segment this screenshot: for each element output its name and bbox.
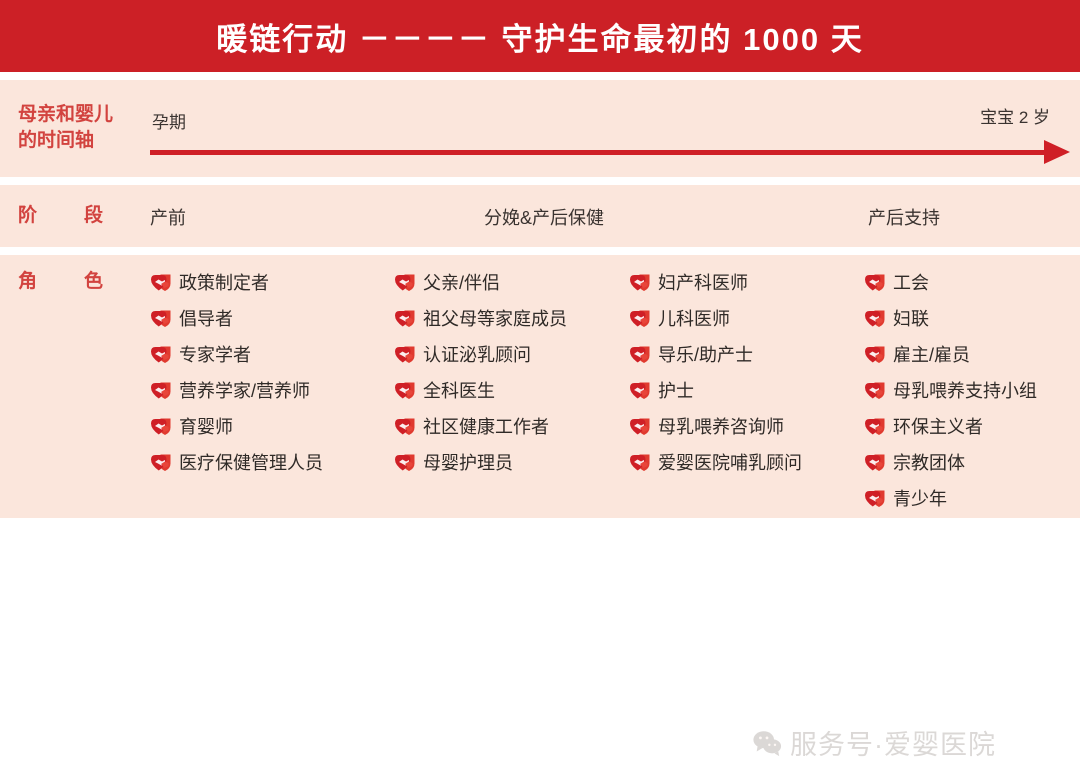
role-item: 母婴护理员 [394, 445, 567, 481]
role-item: 护士 [629, 373, 802, 409]
handshake-heart-icon [150, 273, 172, 293]
handshake-heart-icon [394, 273, 416, 293]
role-item-label: 营养学家/营养师 [179, 382, 310, 400]
role-item: 青少年 [864, 481, 1037, 517]
role-item: 母乳喂养咨询师 [629, 409, 802, 445]
role-item-label: 母乳喂养支持小组 [893, 382, 1037, 400]
role-item: 母乳喂养支持小组 [864, 373, 1037, 409]
role-item: 父亲/伴侣 [394, 265, 567, 301]
handshake-heart-icon [150, 345, 172, 365]
role-item-label: 母乳喂养咨询师 [658, 418, 784, 436]
roles-section: 角 色 政策制定者倡导者专家学者营养学家/营养师育婴师医疗保健管理人员 父亲/伴… [0, 255, 1080, 518]
role-item-label: 育婴师 [179, 418, 233, 436]
role-item-label: 妇产科医师 [658, 274, 748, 292]
role-item-label: 专家学者 [179, 346, 251, 364]
roles-column-family: 父亲/伴侣祖父母等家庭成员认证泌乳顾问全科医生社区健康工作者母婴护理员 [394, 265, 567, 481]
handshake-heart-icon [394, 417, 416, 437]
role-item: 儿科医师 [629, 301, 802, 337]
role-item: 育婴师 [150, 409, 323, 445]
role-item-label: 工会 [893, 274, 929, 292]
stage-section: 阶 段 产前 分娩&产后保健 产后支持 [0, 185, 1080, 247]
watermark-text: 服务号·爱婴医院 [790, 723, 996, 762]
role-item-label: 祖父母等家庭成员 [423, 310, 567, 328]
role-item: 雇主/雇员 [864, 337, 1037, 373]
role-item-label: 妇联 [893, 310, 929, 328]
handshake-heart-icon [150, 381, 172, 401]
stage-row-label: 阶 段 [18, 203, 117, 229]
handshake-heart-icon [629, 381, 651, 401]
role-item-label: 儿科医师 [658, 310, 730, 328]
handshake-heart-icon [864, 345, 886, 365]
handshake-heart-icon [864, 273, 886, 293]
roles-column-community: 工会妇联雇主/雇员母乳喂养支持小组环保主义者宗教团体青少年 [864, 265, 1037, 517]
timeline-section: 母亲和婴儿 的时间轴 孕期 宝宝 2 岁 [0, 80, 1080, 177]
role-item-label: 护士 [658, 382, 694, 400]
roles-column-clinical: 妇产科医师儿科医师导乐/助产士护士母乳喂养咨询师爱婴医院哺乳顾问 [629, 265, 802, 481]
role-item: 医疗保健管理人员 [150, 445, 323, 481]
watermark: 服务号·爱婴医院 [752, 723, 996, 762]
role-item: 社区健康工作者 [394, 409, 567, 445]
handshake-heart-icon [864, 381, 886, 401]
wechat-icon [752, 728, 782, 758]
role-item-label: 政策制定者 [179, 274, 269, 292]
header-divider [0, 72, 1080, 80]
role-item-label: 父亲/伴侣 [423, 274, 500, 292]
timeline-row-label-line2: 的时间轴 [18, 128, 148, 154]
role-item-label: 社区健康工作者 [423, 418, 549, 436]
handshake-heart-icon [394, 345, 416, 365]
handshake-heart-icon [629, 273, 651, 293]
handshake-heart-icon [150, 417, 172, 437]
timeline-end-label: 宝宝 2 岁 [980, 103, 1050, 128]
handshake-heart-icon [394, 309, 416, 329]
role-item: 营养学家/营养师 [150, 373, 323, 409]
role-item-label: 宗教团体 [893, 454, 965, 472]
stage-roles-divider [0, 247, 1080, 255]
role-item: 妇联 [864, 301, 1037, 337]
role-item: 导乐/助产士 [629, 337, 802, 373]
role-item-label: 导乐/助产士 [658, 346, 753, 364]
handshake-heart-icon [864, 417, 886, 437]
handshake-heart-icon [629, 453, 651, 473]
stage-item-delivery-postnatal-care: 分娩&产后保健 [484, 204, 604, 230]
role-item-label: 青少年 [893, 490, 947, 508]
role-item-label: 环保主义者 [893, 418, 983, 436]
role-item: 爱婴医院哺乳顾问 [629, 445, 802, 481]
handshake-heart-icon [864, 453, 886, 473]
role-item-label: 雇主/雇员 [893, 346, 970, 364]
timeline-axis-line [150, 150, 1050, 155]
role-item: 全科医生 [394, 373, 567, 409]
role-item-label: 倡导者 [179, 310, 233, 328]
page-title: 暖链行动 －－－－ 守护生命最初的 1000 天 [216, 14, 863, 59]
role-item: 祖父母等家庭成员 [394, 301, 567, 337]
roles-column-antenatal: 政策制定者倡导者专家学者营养学家/营养师育婴师医疗保健管理人员 [150, 265, 323, 481]
role-item: 倡导者 [150, 301, 323, 337]
role-item-label: 认证泌乳顾问 [423, 346, 531, 364]
handshake-heart-icon [629, 309, 651, 329]
stage-item-postnatal-support: 产后支持 [868, 204, 940, 230]
role-item-label: 全科医生 [423, 382, 495, 400]
stage-item-antenatal: 产前 [150, 204, 186, 230]
role-item: 环保主义者 [864, 409, 1037, 445]
role-item: 认证泌乳顾问 [394, 337, 567, 373]
right-arrow-icon [1044, 140, 1070, 164]
timeline-row-label-line1: 母亲和婴儿 [18, 102, 148, 128]
page-header: 暖链行动 －－－－ 守护生命最初的 1000 天 [0, 0, 1080, 72]
role-item: 宗教团体 [864, 445, 1037, 481]
role-item: 工会 [864, 265, 1037, 301]
timeline-start-label: 孕期 [152, 108, 186, 133]
timeline-row-label: 母亲和婴儿 的时间轴 [18, 102, 148, 154]
role-item: 政策制定者 [150, 265, 323, 301]
handshake-heart-icon [629, 345, 651, 365]
role-item: 妇产科医师 [629, 265, 802, 301]
handshake-heart-icon [864, 309, 886, 329]
handshake-heart-icon [394, 381, 416, 401]
timeline-stage-divider [0, 177, 1080, 185]
handshake-heart-icon [150, 309, 172, 329]
role-item-label: 爱婴医院哺乳顾问 [658, 454, 802, 472]
handshake-heart-icon [150, 453, 172, 473]
handshake-heart-icon [629, 417, 651, 437]
roles-columns: 政策制定者倡导者专家学者营养学家/营养师育婴师医疗保健管理人员 父亲/伴侣祖父母… [0, 265, 1080, 515]
role-item-label: 母婴护理员 [423, 454, 513, 472]
handshake-heart-icon [394, 453, 416, 473]
role-item: 专家学者 [150, 337, 323, 373]
role-item-label: 医疗保健管理人员 [179, 454, 323, 472]
handshake-heart-icon [864, 489, 886, 509]
